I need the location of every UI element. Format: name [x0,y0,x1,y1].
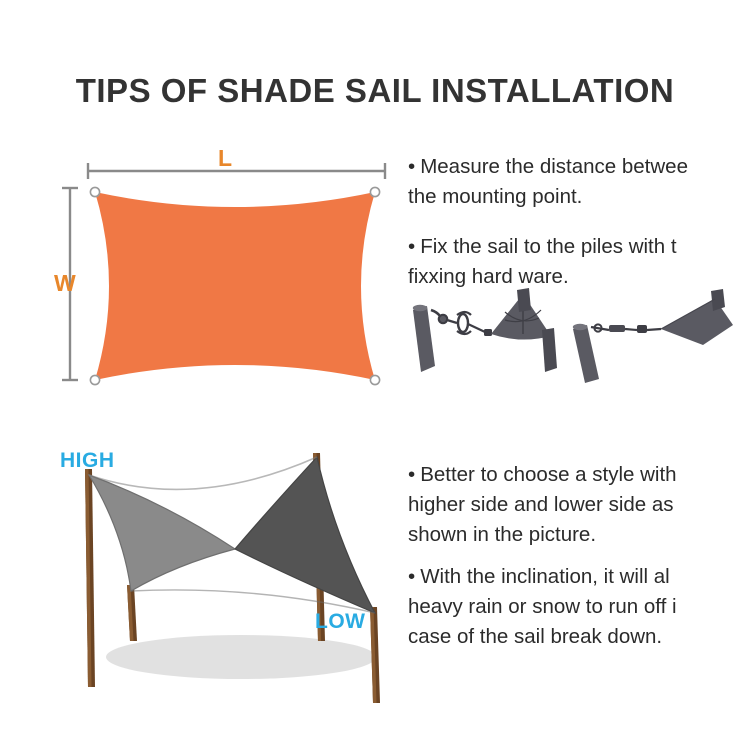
bullet-dot: • [408,562,415,592]
high-side-label: HIGH [60,449,115,473]
mounting-pole-icon [573,324,599,383]
rectangle-sail-diagram [55,140,415,410]
bullet-dot: • [408,152,415,182]
turnbuckle-icon [431,310,485,334]
page-title: TIPS OF SHADE SAIL INSTALLATION [0,72,750,110]
hardware-illustration-front [405,288,570,383]
sail-light [89,475,235,591]
sail-dark [235,457,375,613]
ground-shadow [106,635,376,679]
length-dimension-line [88,163,385,179]
turnbuckle-icon [591,324,661,333]
tip-line: heavy rain or snow to run off i [408,595,677,618]
mounting-pole-icon [413,305,435,372]
width-label: W [54,270,76,297]
tip-line: Better to choose a style with [420,463,676,486]
inclined-sails-diagram [45,445,415,705]
hardware-illustration-side [565,285,750,383]
tip-choose-style: •Better to choose a style with higher si… [408,460,677,550]
tip-line: Fix the sail to the piles with t [420,235,676,258]
infographic-page: TIPS OF SHADE SAIL INSTALLATION L W •Mea… [0,0,750,750]
triangle-sail-corner [491,288,557,372]
low-side-label: LOW [315,610,365,634]
shackle-icon [484,329,492,336]
bullet-dot: • [408,460,415,490]
sail-body [95,192,375,380]
bullet-dot: • [408,232,415,262]
tip-line: shown in the picture. [408,523,596,546]
tip-line: Measure the distance betwee [420,155,688,178]
tip-inclination: •With the inclination, it will al heavy … [408,562,677,652]
tip-line: With the inclination, it will al [420,565,670,588]
tip-fix-sail: •Fix the sail to the piles with t fixxin… [408,232,677,292]
tip-line: the mounting point. [408,185,582,208]
sail-edge-upper [89,457,317,489]
triangle-sail-corner [661,289,733,345]
tip-line: case of the sail break down. [408,625,662,648]
tip-line: higher side and lower side as [408,493,674,516]
tip-measure: •Measure the distance betwee the mountin… [408,152,688,212]
length-label: L [218,145,232,172]
tip-line: fixxing hard ware. [408,265,569,288]
